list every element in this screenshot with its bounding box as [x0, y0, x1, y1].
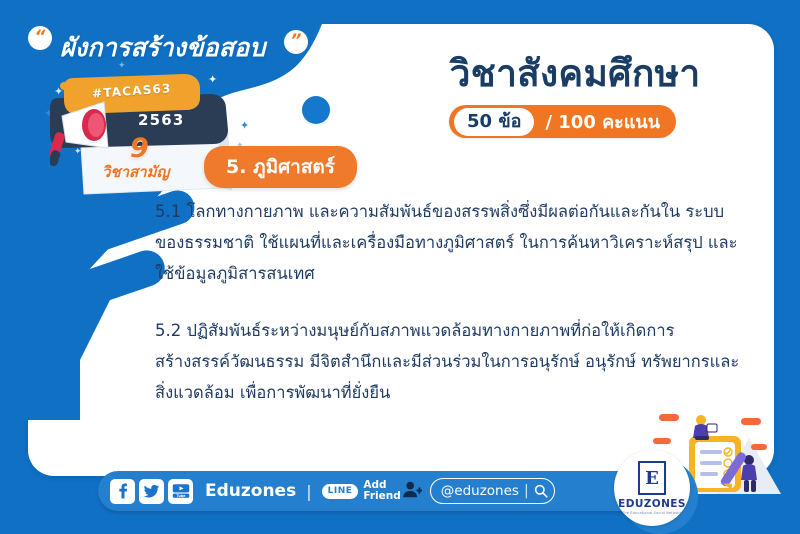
- svg-text:Tube: Tube: [176, 494, 186, 498]
- headline-group: “ ผังการสร้างข้อสอบ ”: [22, 24, 312, 72]
- add-person-icon[interactable]: [403, 481, 422, 502]
- line-icon[interactable]: LINE: [322, 484, 359, 499]
- decorative-circle: [302, 96, 330, 124]
- add-friend-line2: Friend: [363, 491, 400, 503]
- emblem-year: 2563: [138, 111, 185, 129]
- logo-mark-letter: E: [638, 461, 666, 495]
- topic-badge: 5. ภูมิศาสตร์: [204, 146, 357, 188]
- handle-divider: |: [524, 483, 529, 499]
- twitter-icon[interactable]: [139, 479, 164, 504]
- footer-divider: |: [306, 482, 311, 501]
- score-badge: 50 ข้อ / 100 คะแนน: [449, 105, 676, 138]
- paragraph-5-1: 5.1 โลกทางกายภาพ และความสัมพันธ์ของสรรพส…: [155, 196, 745, 289]
- page-title: ผังการสร้างข้อสอบ: [60, 28, 265, 68]
- search-icon[interactable]: [534, 484, 548, 498]
- handle-search-box[interactable]: @eduzones |: [430, 478, 555, 504]
- emblem-subject-group: วิชาสามัญ: [102, 160, 169, 184]
- quote-open-icon: “: [28, 26, 52, 50]
- body-content: 5.1 โลกทางกายภาพ และความสัมพันธ์ของสรรพส…: [155, 196, 745, 408]
- question-count: 50 ข้อ: [454, 108, 534, 136]
- logo-tagline: The Educational Social Network: [622, 511, 682, 515]
- point-total: / 100 คะแนน: [545, 107, 660, 136]
- paragraph-5-2: 5.2 ปฏิสัมพันธ์ระหว่างมนุษย์กับสภาพแวดล้…: [155, 315, 745, 408]
- eduzones-logo: E EDUZONES The Educational Social Networ…: [614, 450, 690, 526]
- handle-text: @eduzones: [441, 483, 519, 499]
- footer-bar: Tube Eduzones | LINE Add Friend @eduzone…: [98, 471, 644, 511]
- subject-title: วิชาสังคมศึกษา: [390, 44, 760, 103]
- screenshot-root: ✦ ✦ ✦ ✦ ✦ ✦ ✦ ✦ ✦ ✦ “ ผังการสร้างข้อสอบ …: [0, 0, 800, 534]
- logo-wordmark: EDUZONES: [618, 498, 686, 510]
- add-friend-label[interactable]: Add Friend: [363, 480, 400, 503]
- facebook-icon[interactable]: [110, 479, 135, 504]
- quote-close-icon: ”: [284, 30, 308, 54]
- youtube-icon[interactable]: Tube: [168, 479, 193, 504]
- brand-name: Eduzones: [205, 481, 296, 501]
